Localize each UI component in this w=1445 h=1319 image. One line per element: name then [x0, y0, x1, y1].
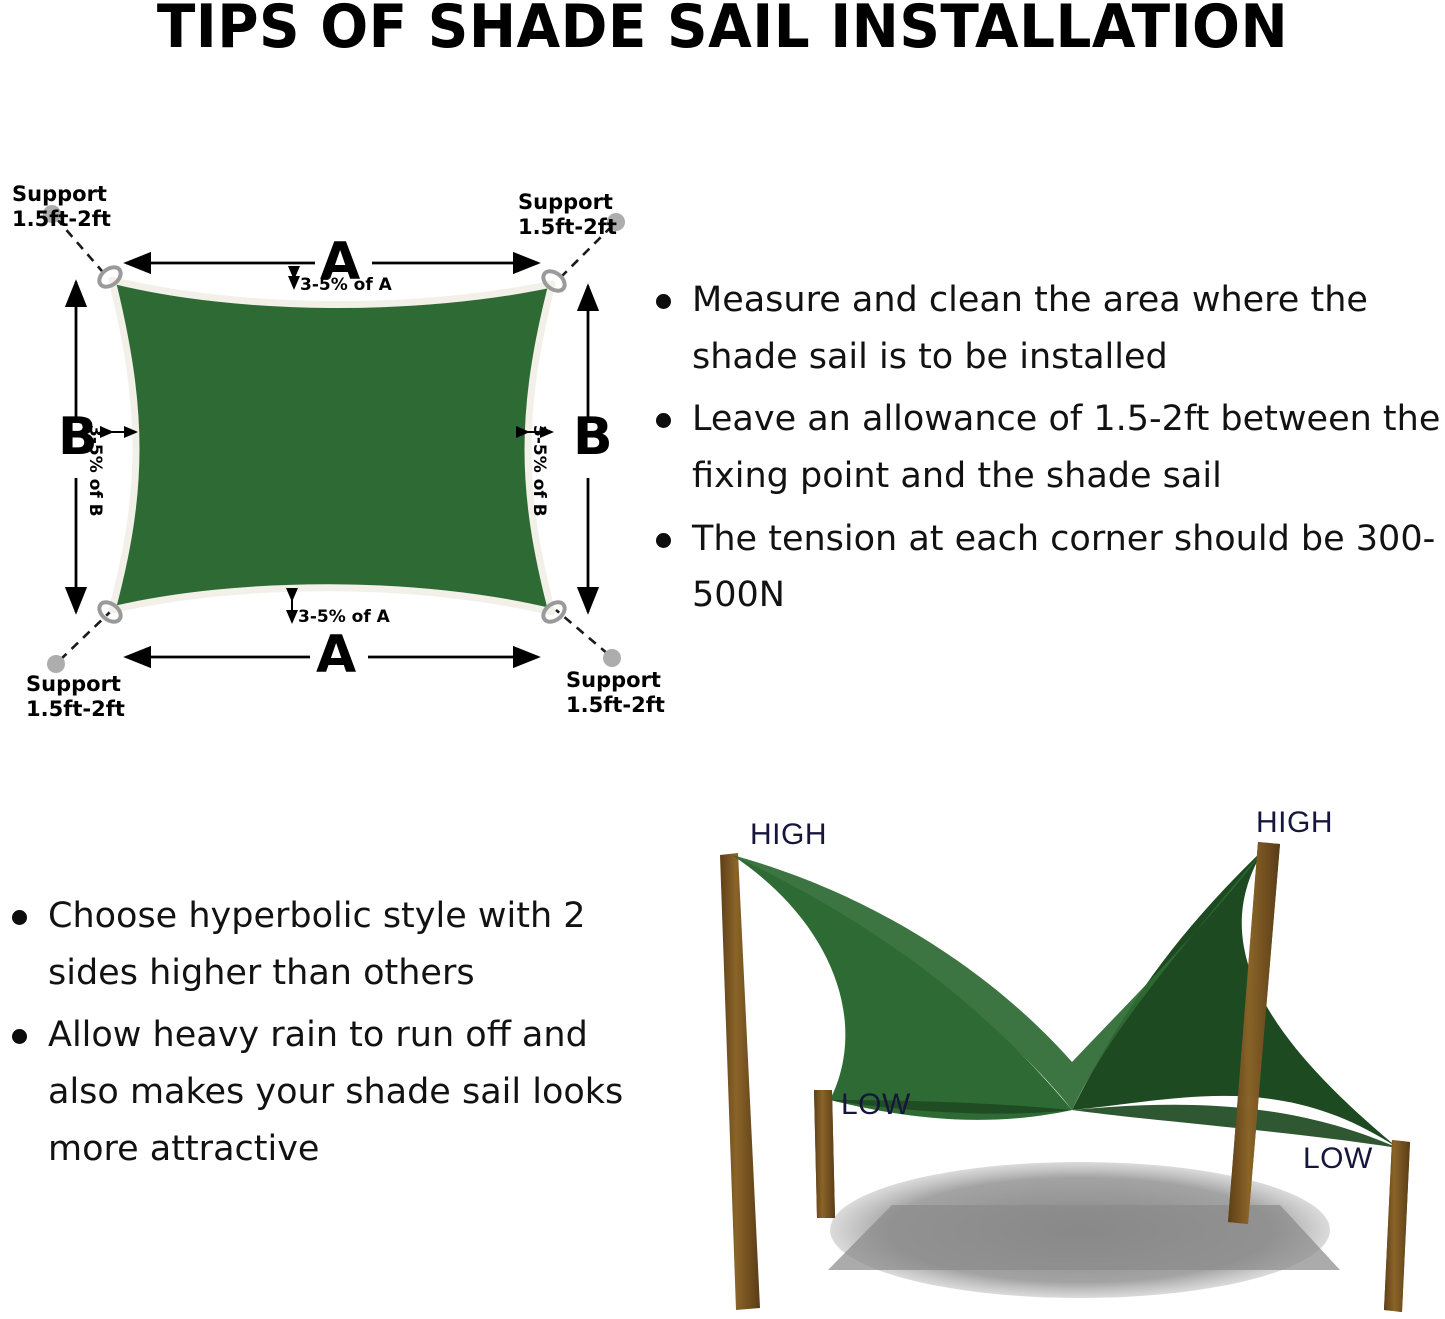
support-label-line1: Support — [518, 190, 617, 215]
support-label-line2: 1.5ft-2ft — [12, 207, 111, 232]
hyperbolic-sail-diagram — [680, 800, 1445, 1319]
label-low-left: LOW — [841, 1088, 911, 1122]
page-title: TIPS OF SHADE SAIL INSTALLATION — [43, 0, 1401, 59]
label-high-left: HIGH — [750, 818, 827, 852]
dimension-letter-a-bottom: A — [316, 629, 356, 681]
support-label-top-left: Support 1.5ft-2ft — [12, 182, 111, 232]
label-high-right: HIGH — [1256, 806, 1333, 840]
list-item: Choose hyperbolic style with 2 sides hig… — [4, 888, 624, 1001]
dimension-letter-b-right: B — [573, 411, 613, 463]
curve-label-right: 3-5% of B — [529, 425, 549, 517]
installation-tips-list: Measure and clean the area where the sha… — [648, 272, 1445, 630]
post-high-left — [720, 853, 760, 1310]
list-item: The tension at each corner should be 300… — [648, 511, 1445, 624]
post-low-left-front — [814, 1090, 835, 1218]
list-item: Leave an allowance of 1.5-2ft between th… — [648, 391, 1445, 504]
support-label-line1: Support — [566, 668, 665, 693]
rect-sail-body — [112, 280, 552, 612]
curve-label-bottom: 3-5% of A — [298, 607, 390, 627]
sail-lobe-light — [732, 855, 1072, 1120]
support-label-top-right: Support 1.5ft-2ft — [518, 190, 617, 240]
hyperbolic-tips-list: Choose hyperbolic style with 2 sides hig… — [4, 888, 624, 1183]
support-label-line2: 1.5ft-2ft — [26, 697, 125, 722]
support-label-line1: Support — [12, 182, 111, 207]
support-label-line2: 1.5ft-2ft — [566, 693, 665, 718]
ground-shadow-core — [828, 1205, 1340, 1270]
support-label-bottom-right: Support 1.5ft-2ft — [566, 668, 665, 718]
curve-label-top: 3-5% of A — [300, 275, 392, 295]
support-label-line2: 1.5ft-2ft — [518, 215, 617, 240]
list-item: Measure and clean the area where the sha… — [648, 272, 1445, 385]
label-low-right: LOW — [1303, 1142, 1373, 1176]
post-low-right-front — [1384, 1140, 1410, 1312]
sail-lobe-dark — [1072, 848, 1398, 1148]
support-label-line1: Support — [26, 672, 125, 697]
list-item: Allow heavy rain to run off and also mak… — [4, 1007, 624, 1177]
curve-label-left: 3-5% of B — [85, 425, 105, 517]
support-label-bottom-left: Support 1.5ft-2ft — [26, 672, 125, 722]
